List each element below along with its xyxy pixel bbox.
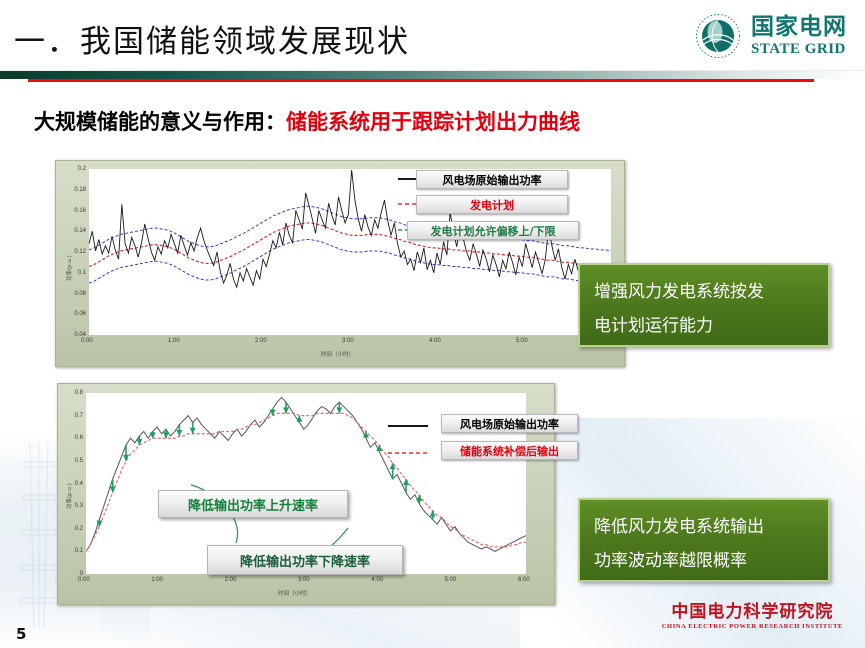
chart2-legend-label-0: 风电场原始输出功率 — [460, 416, 559, 432]
subtitle-red: 储能系统用于跟踪计划出力曲线 — [286, 110, 580, 134]
chart1-xtick: 0:00 — [81, 338, 93, 344]
chart1-xtick: 2:00 — [255, 338, 267, 344]
transmission-tower-watermark-icon — [16, 440, 62, 630]
chart2-ytick: 0.6 — [58, 435, 83, 441]
chart2-xtick: 6:00 — [518, 577, 530, 583]
chart-plan-tracking: 0.040.060.080.10.120.140.160.180.2 0:001… — [55, 160, 625, 367]
chart2-ytick: 0.8 — [58, 390, 83, 396]
chart1-xtick: 3:00 — [342, 338, 354, 344]
chart2-y-axis-label: 功率(p.u.) — [65, 483, 73, 509]
chart2-x-axis-label: 时间（小时） — [278, 589, 311, 597]
chart2-xtick: 0:00 — [78, 577, 90, 583]
chart1-xtick: 5:00 — [516, 338, 528, 344]
chart1-x-axis-label: 时间（小时） — [321, 350, 354, 358]
chart2-xtick: 3:00 — [298, 577, 310, 583]
takeaway-box-1: 增强风力发电系统按发 电计划运行能力 — [578, 263, 830, 347]
chart1-svg — [89, 169, 611, 335]
chart2-ytick: 0.2 — [58, 526, 83, 532]
chart1-xtick: 4:00 — [429, 338, 441, 344]
chart2-xtick: 5:00 — [445, 577, 457, 583]
footer-institute-logo: 中国电力科学研究院 CHINA ELECTRIC POWER RESEARCH … — [662, 604, 843, 631]
page-number: 5 — [16, 625, 26, 643]
chart2-callout-fall: 降低输出功率下降速率 — [207, 545, 403, 575]
chart1-ytick: 0.16 — [56, 208, 86, 214]
chart2-xtick: 1:00 — [151, 577, 163, 583]
takeaway-box-1-line2: 电计划运行能力 — [594, 309, 814, 343]
chart1-ytick: 0.08 — [56, 291, 86, 297]
chart1-legend-label-1: 发电计划 — [470, 197, 514, 213]
chart1-y-axis-label: 功率(p.u.) — [65, 255, 73, 281]
chart2-legend-label-1: 储能系统补偿后输出 — [460, 443, 559, 459]
takeaway-box-2: 降低风力发电系统输出 功率波动率越限概率 — [578, 498, 830, 582]
section-subtitle: 大规模储能的意义与作用：储能系统用于跟踪计划出力曲线 — [34, 106, 580, 136]
takeaway-box-2-line2: 功率波动率越限概率 — [594, 544, 814, 578]
chart2-ytick: 0.1 — [58, 548, 83, 554]
state-grid-logo: 国家电网 STATE GRID — [695, 8, 847, 64]
chart1-legend-item-2: 发电计划允许偏移上/下限 — [407, 221, 579, 240]
takeaway-box-2-line1: 降低风力发电系统输出 — [594, 510, 814, 544]
chart2-xtick: 4:00 — [371, 577, 383, 583]
chart1-legend-label-0: 风电场原始输出功率 — [443, 172, 542, 188]
page-title: 一．我国储能领域发展现状 — [14, 16, 410, 61]
chart1-legend-item-1: 发电计划 — [416, 195, 568, 214]
chart1-ytick: 0.2 — [56, 166, 86, 172]
chart2-callout-rise-label: 降低输出功率上升速率 — [188, 495, 318, 514]
chart1-legend-label-2: 发电计划允许偏移上/下限 — [430, 223, 555, 239]
chart2-legend-item-1: 储能系统补偿后输出 — [441, 441, 578, 460]
logo-title-en: STATE GRID — [751, 42, 847, 57]
chart1-ytick: 0.18 — [56, 187, 86, 193]
chart2-ytick: 0.7 — [58, 413, 83, 419]
slide-header: 一．我国储能领域发展现状 国家电网 STATE GRID — [0, 0, 865, 72]
chart2-callout-rise: 降低输出功率上升速率 — [158, 490, 348, 518]
header-divider-red — [28, 79, 814, 82]
chart1-xtick: 1:00 — [168, 338, 180, 344]
chart1-ytick: 0.06 — [56, 311, 86, 317]
chart1-ytick: 0.14 — [56, 228, 86, 234]
footer-institute-en: CHINA ELECTRIC POWER RESEARCH INSTITUTE — [662, 624, 843, 631]
chart1-legend-item-0: 风电场原始输出功率 — [416, 170, 568, 189]
footer-institute-cn: 中国电力科学研究院 — [662, 604, 843, 621]
state-grid-globe-icon — [695, 13, 741, 59]
chart2-ytick: 0.5 — [58, 458, 83, 464]
chart2-xtick: 2:00 — [225, 577, 237, 583]
chart2-legend-item-0: 风电场原始输出功率 — [441, 414, 578, 433]
takeaway-box-1-line1: 增强风力发电系统按发 — [594, 275, 814, 309]
header-divider-gradient — [0, 70, 865, 79]
subtitle-black: 大规模储能的意义与作用： — [34, 110, 286, 134]
chart1-plot-area — [89, 169, 611, 335]
chart2-callout-fall-label: 降低输出功率下降速率 — [240, 551, 370, 570]
logo-title-cn: 国家电网 — [751, 16, 847, 39]
